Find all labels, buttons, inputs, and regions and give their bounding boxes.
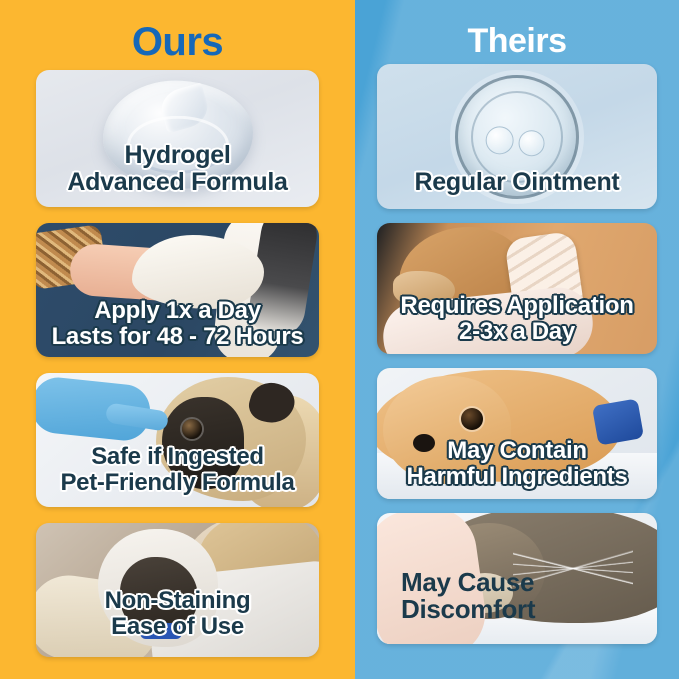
- caption-line: Regular Ointment: [383, 169, 651, 196]
- caption-line: May Contain: [383, 438, 651, 463]
- card-non-staining[interactable]: Non-Staining Ease of Use: [36, 523, 319, 657]
- ours-panel: Ours Hydrogel Advanced Formula: [0, 0, 355, 679]
- card-hydrogel[interactable]: Hydrogel Advanced Formula: [36, 70, 319, 207]
- card-safe-if-ingested-caption: Safe if Ingested Pet-Friendly Formula: [36, 444, 319, 495]
- caption-line: Requires Application: [383, 293, 651, 318]
- caption-line: Non-Staining: [42, 588, 313, 613]
- card-safe-if-ingested[interactable]: Safe if Ingested Pet-Friendly Formula: [36, 373, 319, 507]
- caption-line: Lasts for 48 - 72 Hours: [42, 324, 313, 349]
- ours-heading: Ours: [0, 0, 355, 62]
- caption-line: Pet-Friendly Formula: [42, 470, 313, 495]
- caption-line: Safe if Ingested: [42, 444, 313, 469]
- card-hydrogel-caption: Hydrogel Advanced Formula: [36, 142, 319, 195]
- card-apply-once-daily[interactable]: Apply 1x a Day Lasts for 48 - 72 Hours: [36, 223, 319, 357]
- card-regular-ointment[interactable]: Regular Ointment: [377, 64, 657, 209]
- card-regular-ointment-caption: Regular Ointment: [377, 169, 657, 196]
- caption-line: Harmful Ingredients: [383, 464, 651, 489]
- card-may-contain-harmful-caption: May Contain Harmful Ingredients: [377, 438, 657, 489]
- caption-line: 2-3x a Day: [383, 319, 651, 344]
- caption-line: Apply 1x a Day: [42, 298, 313, 323]
- theirs-card-stack: Regular Ointment Requires Application 2-…: [355, 58, 679, 644]
- card-requires-application[interactable]: Requires Application 2-3x a Day: [377, 223, 657, 354]
- card-non-staining-caption: Non-Staining Ease of Use: [36, 588, 319, 639]
- comparison-infographic: Ours Hydrogel Advanced Formula: [0, 0, 679, 679]
- caption-line: May Cause: [401, 569, 651, 597]
- theirs-panel: Theirs Regular Ointment Requires Applica…: [355, 0, 679, 679]
- card-apply-once-daily-caption: Apply 1x a Day Lasts for 48 - 72 Hours: [36, 298, 319, 349]
- caption-line: Ease of Use: [42, 614, 313, 639]
- theirs-heading: Theirs: [355, 0, 679, 58]
- card-may-cause-discomfort[interactable]: May Cause Discomfort: [377, 513, 657, 644]
- caption-line: Discomfort: [401, 596, 651, 624]
- caption-line: Hydrogel: [42, 142, 313, 169]
- card-may-contain-harmful[interactable]: May Contain Harmful Ingredients: [377, 368, 657, 499]
- ours-card-stack: Hydrogel Advanced Formula Apply 1x a Day…: [0, 62, 355, 657]
- card-may-cause-discomfort-caption: May Cause Discomfort: [377, 569, 657, 624]
- card-requires-application-caption: Requires Application 2-3x a Day: [377, 293, 657, 344]
- caption-line: Advanced Formula: [42, 169, 313, 196]
